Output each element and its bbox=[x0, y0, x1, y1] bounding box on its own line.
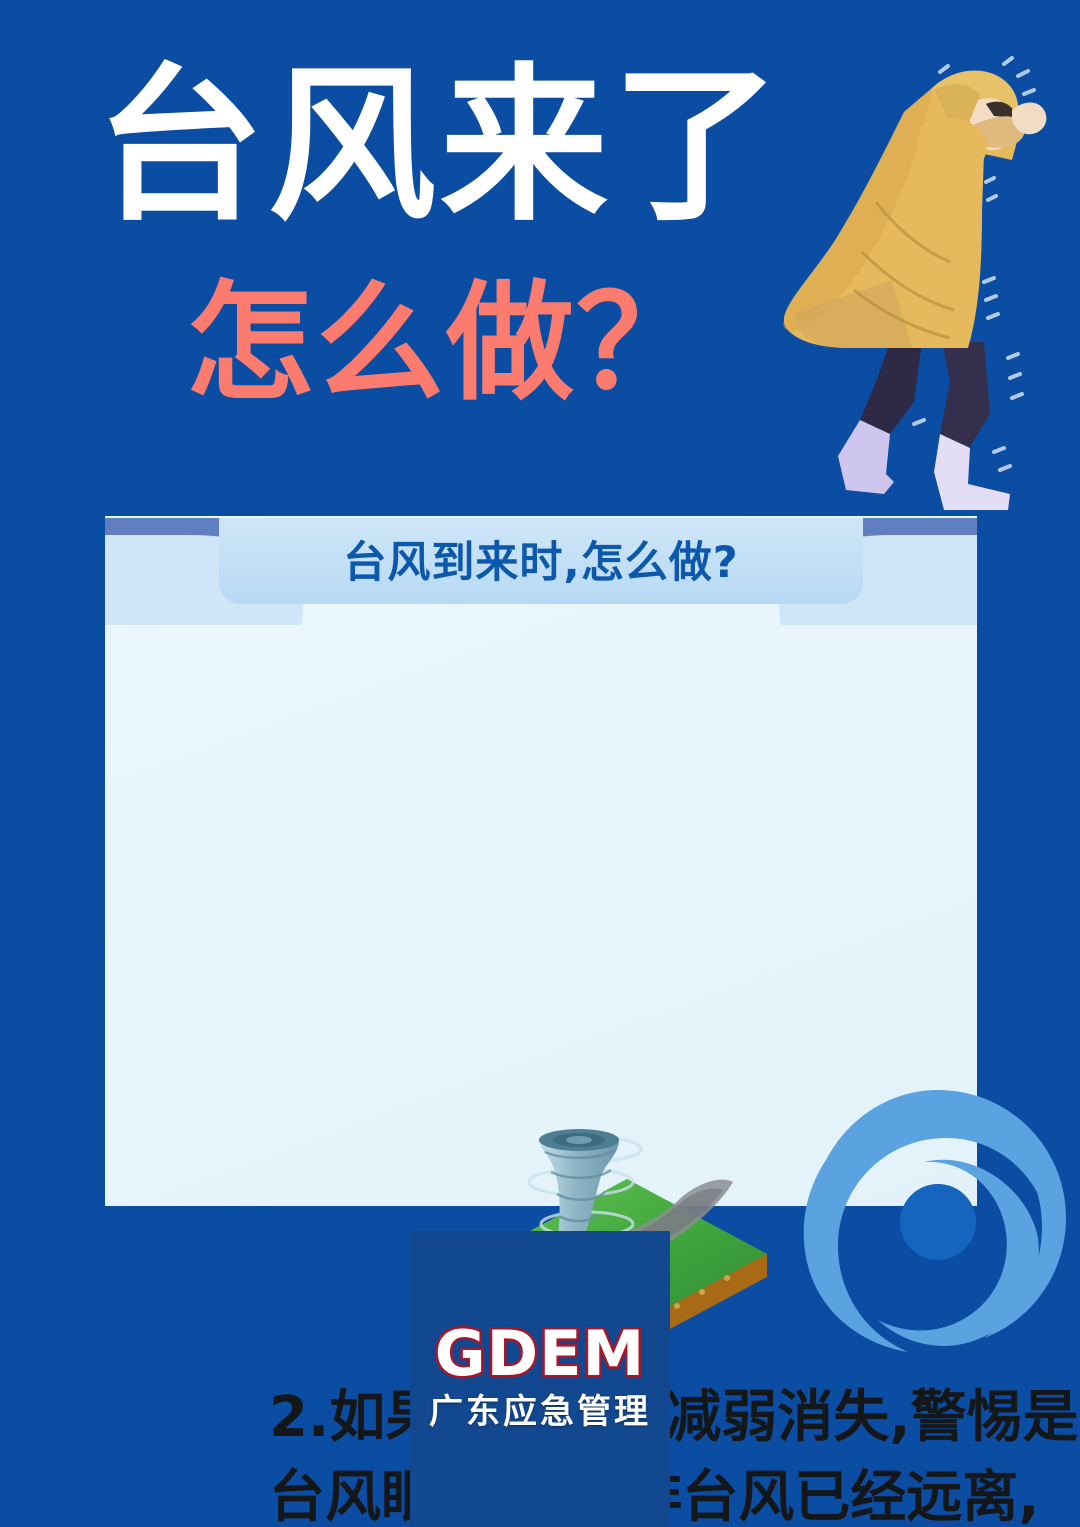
typhoon-safety-poster: 台风来了 怎么做？ bbox=[0, 0, 1080, 1527]
page-subtitle: 怎么做？ bbox=[186, 280, 706, 408]
organization-logo: GDEM 广东应急管理 bbox=[410, 1231, 670, 1527]
section-banner-title: 台风到来时,怎么做? bbox=[343, 528, 738, 590]
typhoon-cyclone-icon bbox=[796, 1076, 1080, 1366]
logo-subtitle: 广东应急管理 bbox=[429, 1395, 651, 1429]
page-title: 台风来了 bbox=[96, 62, 784, 230]
logo-wordmark: GDEM bbox=[435, 1323, 645, 1385]
person-in-raincoat-icon bbox=[772, 42, 1072, 512]
section-banner: 台风到来时,怎么做? bbox=[219, 518, 863, 604]
